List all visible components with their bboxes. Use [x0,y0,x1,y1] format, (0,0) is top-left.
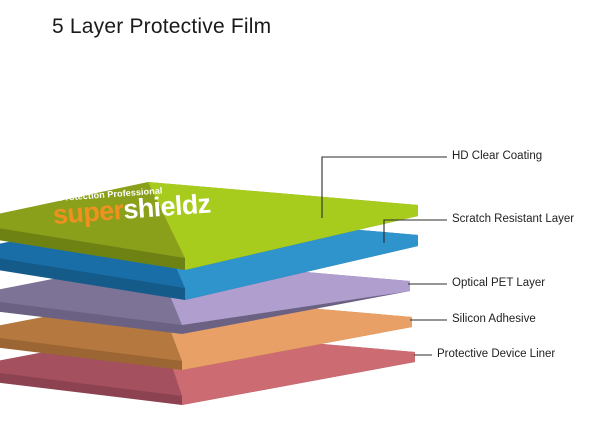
label-protective-device-liner: Protective Device Liner [437,348,555,360]
label-optical-pet: Optical PET Layer [452,277,545,289]
diagram-canvas: 5 Layer Protective Film [0,0,600,423]
label-silicon-adhesive: Silicon Adhesive [452,313,536,325]
label-hd-clear-coating: HD Clear Coating [452,150,542,162]
label-scratch-resistant: Scratch Resistant Layer [452,213,574,225]
